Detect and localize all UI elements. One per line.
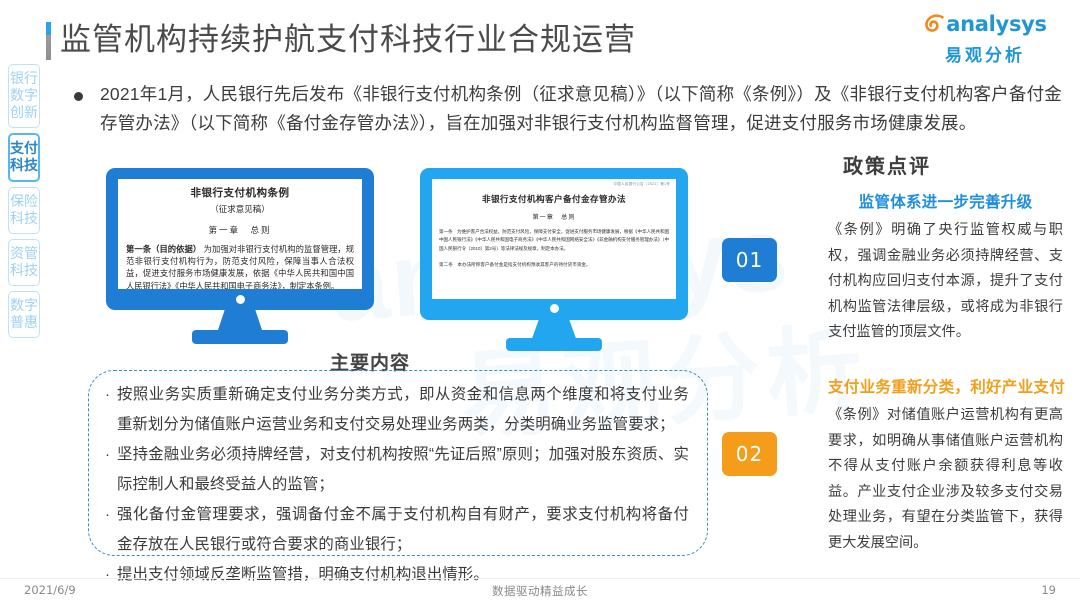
sidebar-item-label: 数字普惠 [9, 297, 39, 331]
doc-chapter: 第一章 总则 [126, 224, 354, 236]
intro-paragraph: 2021年1月，人民银行先后发布《非银行支付机构条例（征求意见稿）》（以下简称《… [74, 80, 1064, 138]
monitor-left-stand-base [192, 330, 288, 344]
monitor-left-indicator-dot [236, 295, 245, 304]
list-item: · 按照业务实质重新确定支付业务分类方式，即从资金和信息两个维度和将支付业务重新… [105, 380, 689, 439]
monitor-right: 中国人民银行公告〔2021〕第1号 非银行支付机构客户备付金存管办法 第一章 总… [420, 168, 688, 350]
doc-lead: 第一条（目的依据） [126, 244, 201, 254]
doc-body-second: 第二条 本办法所称客户备付金是指支付机构预收其客户的待付货币资金。 [439, 261, 669, 269]
slide-root: analysys 易观分析 监管机构持续护航支付科技行业合规运营 analysy… [0, 0, 1080, 608]
list-item: · 强化备付金管理要求，强调备付金不属于支付机构自有财产，要求支付机构将备付金存… [105, 500, 689, 559]
doc-body: 第一条 为维护客户合法权益，防范支付风险，保障支付安全，促进支付服务市场健康发展… [439, 228, 669, 253]
doc-title: 非银行支付机构客户备付金存管办法 [439, 193, 669, 205]
footer-page-number: 19 [1041, 583, 1056, 597]
monitor-right-indicator-dot [550, 304, 559, 313]
list-item: · 坚持金融业务必须持牌经营，对支付机构按照“先证后照”原则；加强对股东资质、实… [105, 440, 689, 499]
monitor-left-screen: 非银行支付机构条例 （征求意见稿） 第一章 总则 第一条（目的依据） 为加强对非… [118, 179, 362, 289]
policy-review-body: 《条例》明确了央行监管权威与职权，强调金融业务必须持牌经营、支付机构应回归支付本… [828, 218, 1063, 346]
policy-review-heading: 政策点评 [843, 150, 931, 179]
list-item-text: 强化备付金管理要求，强调备付金不属于支付机构自有财产，要求支付机构将备付金存放在… [117, 500, 689, 559]
logo-cn-text: 易观分析 [920, 41, 1050, 66]
sidebar-item-label: 资管科技 [9, 245, 39, 279]
main-content-box: · 按照业务实质重新确定支付业务分类方式，即从资金和信息两个维度和将支付业务重新… [88, 370, 708, 556]
document-custody-rules: 中国人民银行公告〔2021〕第1号 非银行支付机构客户备付金存管办法 第一章 总… [432, 179, 676, 270]
monitor-right-screen: 中国人民银行公告〔2021〕第1号 非银行支付机构客户备付金存管办法 第一章 总… [432, 179, 676, 299]
intro-text: 2021年1月，人民银行先后发布《非银行支付机构条例（征求意见稿）》（以下简称《… [100, 80, 1062, 138]
sidebar-item-label: 银行数字创新 [9, 70, 39, 121]
sidebar-item-payment[interactable]: 支付科技 [8, 133, 40, 182]
list-bullet-icon: · [105, 380, 117, 439]
document-regulation-draft: 非银行支付机构条例 （征求意见稿） 第一章 总则 第一条（目的依据） 为加强对非… [118, 179, 362, 289]
policy-review-block-1: 监管体系进一步完善升级 《条例》明确了央行监管权威与职权，强调金融业务必须持牌经… [828, 190, 1063, 346]
analysys-logo: analysys 易观分析 [920, 10, 1050, 62]
footer-divider [0, 578, 1080, 579]
monitor-right-stand-base [506, 338, 602, 351]
footer-slogan: 数据驱动精益成长 [0, 583, 1080, 599]
doc-body: 第一条（目的依据） 为加强对非银行支付机构的监督管理，规范非银行支付机构行为，防… [126, 243, 354, 289]
doc-title: 非银行支付机构条例 [126, 185, 354, 200]
policy-review-title: 监管体系进一步完善升级 [828, 190, 1063, 212]
monitor-left-frame: 非银行支付机构条例 （征求意见稿） 第一章 总则 第一条（目的依据） 为加强对非… [106, 168, 374, 310]
sidebar-item-banking[interactable]: 银行数字创新 [8, 64, 40, 128]
logo-en-text: analysys [946, 13, 1046, 35]
doc-stamp: 中国人民银行公告〔2021〕第1号 [613, 182, 670, 187]
doc-chapter: 第一章 总则 [439, 212, 669, 221]
title-accent-bar [46, 22, 51, 60]
list-bullet-icon: · [105, 440, 117, 499]
doc-subtitle: （征求意见稿） [126, 203, 354, 215]
list-item-text: 坚持金融业务必须持牌经营，对支付机构按照“先证后照”原则；加强对股东资质、实际控… [117, 440, 689, 499]
sidebar-item-asset-management[interactable]: 资管科技 [8, 239, 40, 286]
sidebar-item-label: 保险科技 [9, 193, 39, 227]
policy-review-body: 《条例》对储值账户运营机构有更高要求，如明确从事储值账户运营机构不得从支付账户余… [828, 403, 1063, 556]
monitor-right-frame: 中国人民银行公告〔2021〕第1号 非银行支付机构客户备付金存管办法 第一章 总… [420, 168, 688, 320]
list-bullet-icon: · [105, 500, 117, 559]
sidebar-item-label: 支付科技 [10, 140, 38, 174]
policy-review-title: 支付业务重新分类，利好产业支付 [828, 375, 1063, 397]
logo-swoosh-icon [923, 14, 945, 36]
badge-02: 02 [722, 432, 777, 476]
sidebar-item-inclusive-finance[interactable]: 数字普惠 [8, 291, 40, 338]
sidebar-nav: 银行数字创新 支付科技 保险科技 资管科技 数字普惠 [8, 64, 42, 343]
badge-01: 01 [722, 238, 777, 282]
sidebar-item-insurance[interactable]: 保险科技 [8, 187, 40, 234]
bullet-dot-icon [74, 92, 83, 101]
page-title: 监管机构持续护航支付科技行业合规运营 [60, 18, 636, 62]
monitor-left: 非银行支付机构条例 （征求意见稿） 第一章 总则 第一条（目的依据） 为加强对非… [106, 168, 374, 350]
policy-review-block-2: 支付业务重新分类，利好产业支付 《条例》对储值账户运营机构有更高要求，如明确从事… [828, 375, 1063, 556]
list-item-text: 按照业务实质重新确定支付业务分类方式，即从资金和信息两个维度和将支付业务重新划分… [117, 380, 689, 439]
